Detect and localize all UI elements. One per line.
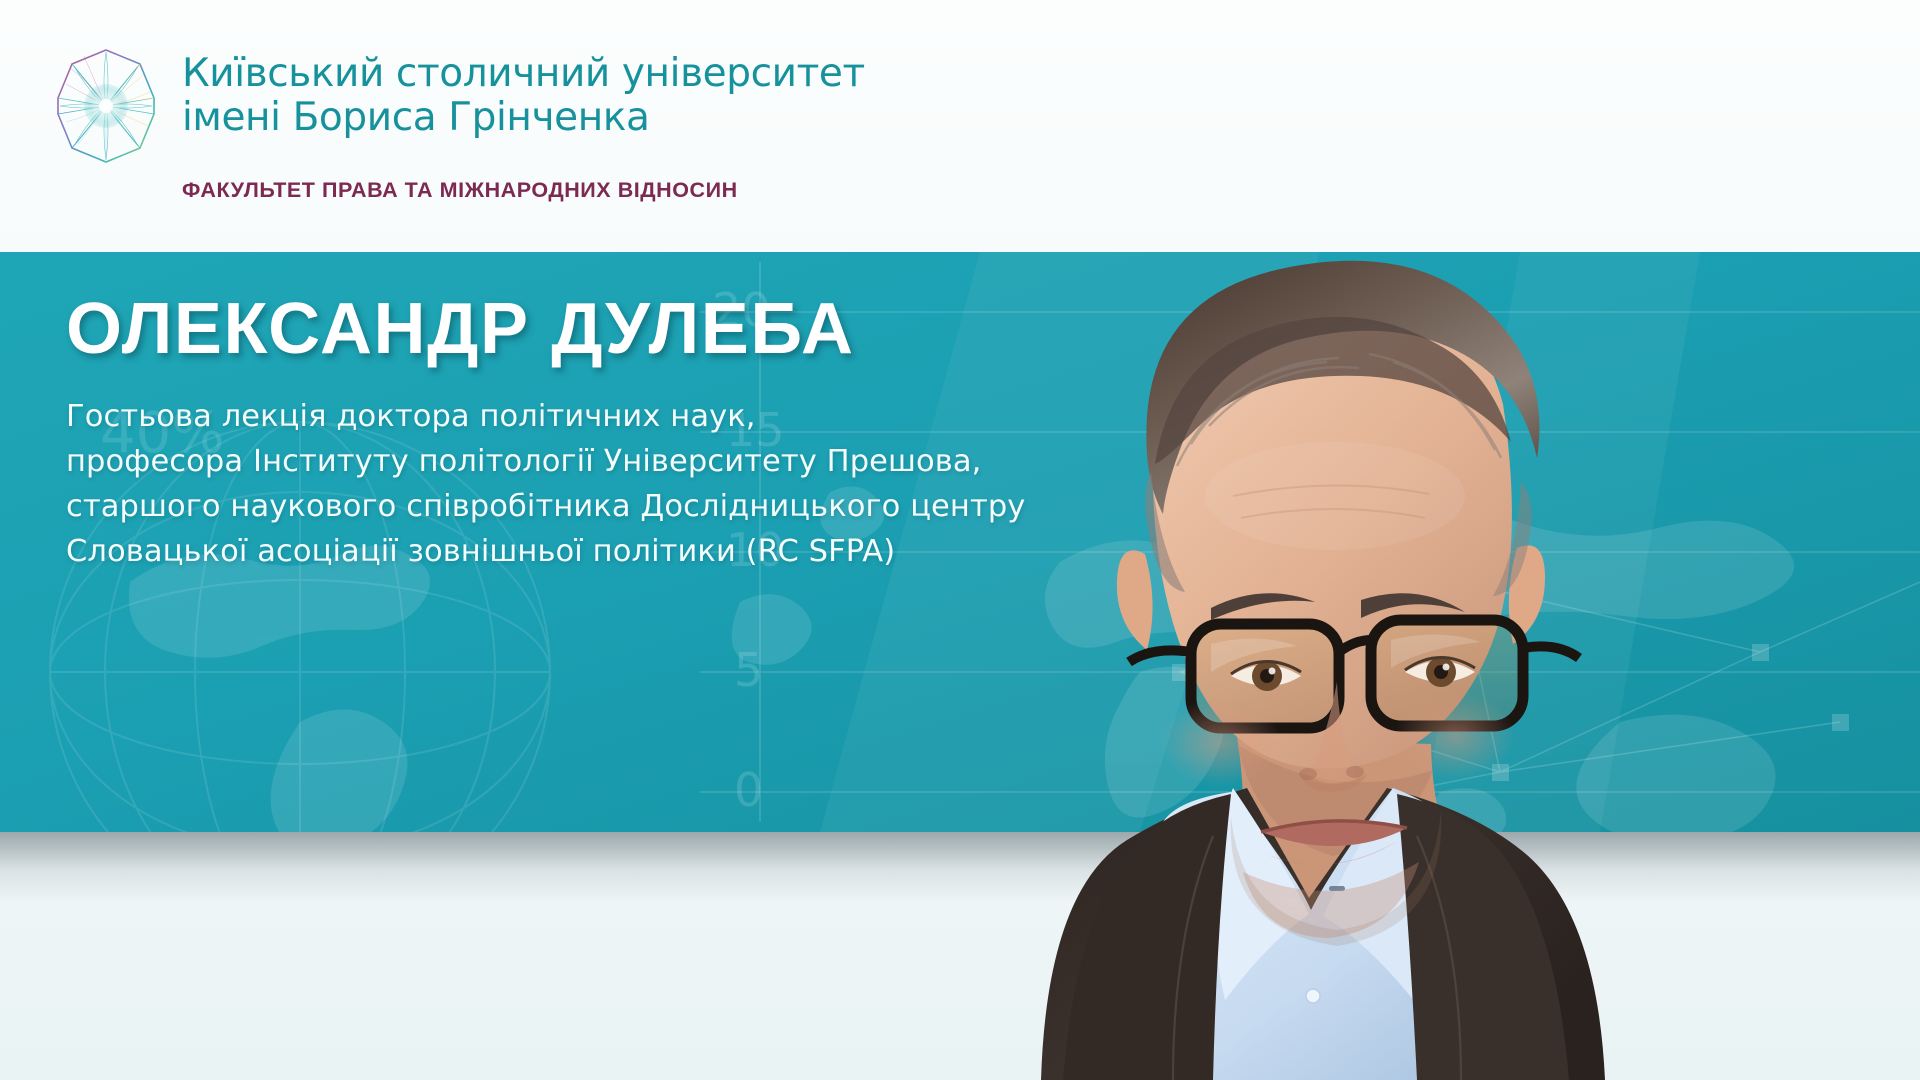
faculty-name: ФАКУЛЬТЕТ ПРАВА ТА МІЖНАРОДНИХ ВІДНОСИН xyxy=(182,178,738,203)
university-brand: Київський столичний університет імені Бо… xyxy=(44,42,865,168)
svg-text:5: 5 xyxy=(734,643,763,697)
university-name-line-1: Київський столичний університет xyxy=(182,52,865,96)
announcement-poster: Київський столичний університет імені Бо… xyxy=(0,0,1920,1080)
university-emblem-icon xyxy=(44,44,168,168)
svg-text:0: 0 xyxy=(734,763,763,817)
speaker-portrait-photo xyxy=(1025,196,1725,1080)
university-name: Київський столичний університет імені Бо… xyxy=(182,42,865,140)
university-name-line-2: імені Бориса Грінченка xyxy=(182,96,865,140)
